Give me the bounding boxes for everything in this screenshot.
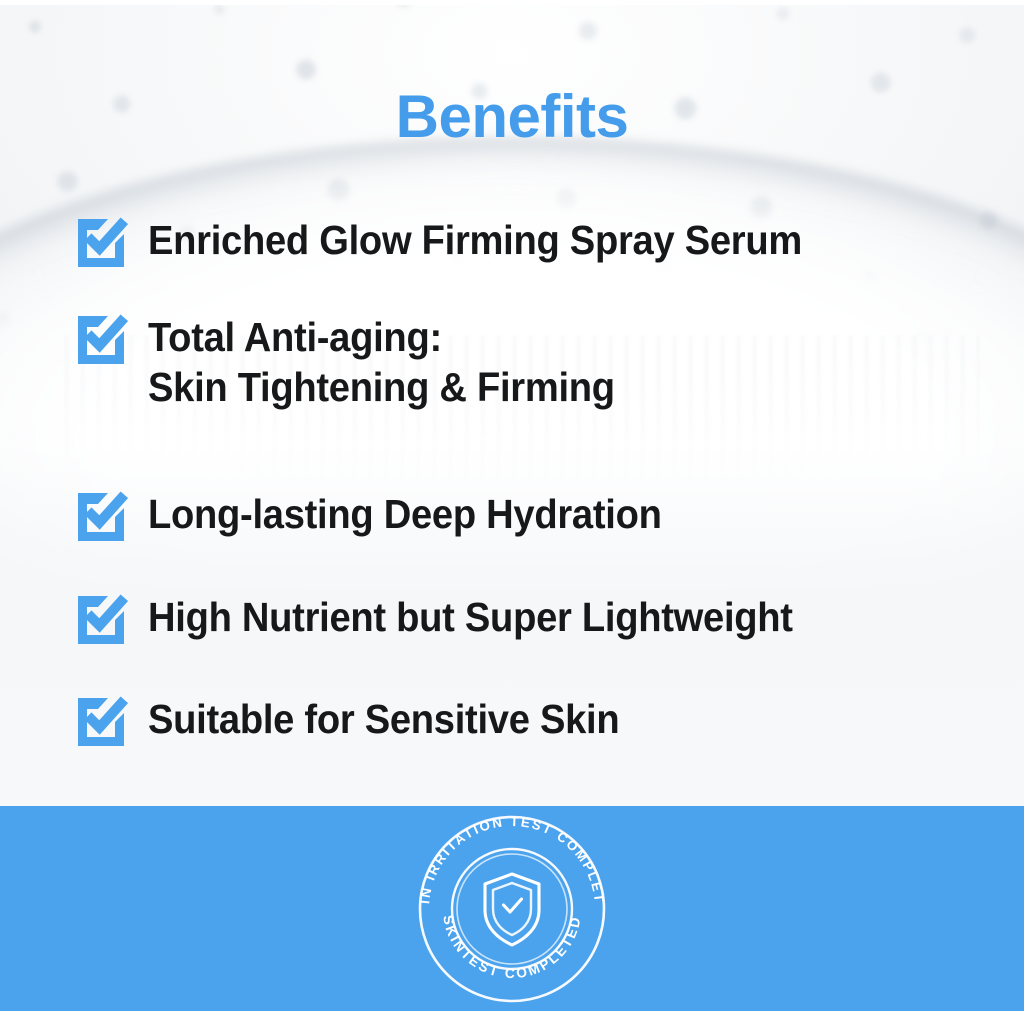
- benefits-infographic: Benefits Enriched Glow Firming Spray Ser…: [0, 0, 1024, 1024]
- list-item-label: High Nutrient but Super Lightweight: [148, 590, 793, 642]
- list-item: Enriched Glow Firming Spray Serum: [72, 213, 851, 269]
- list-item-label: Total Anti-aging: Skin Tightening & Firm…: [148, 310, 615, 412]
- skin-test-badge: SKIN IRRITATION TEST COMPLETED SKINTEST …: [407, 804, 617, 1014]
- list-item: High Nutrient but Super Lightweight: [72, 590, 841, 646]
- list-item-label: Suitable for Sensitive Skin: [148, 692, 619, 744]
- page-title: Benefits: [0, 82, 1024, 151]
- checked-checkbox-icon: [72, 487, 128, 543]
- list-item: Long-lasting Deep Hydration: [72, 487, 700, 543]
- list-item-label: Long-lasting Deep Hydration: [148, 487, 662, 539]
- checked-checkbox-icon: [72, 213, 128, 269]
- certification-footer-band: SKIN IRRITATION TEST COMPLETED SKINTEST …: [0, 806, 1024, 1011]
- badge-bottom-arc-text: SKINTEST COMPLETED: [440, 913, 584, 980]
- checked-checkbox-icon: [72, 692, 128, 748]
- list-item-label: Enriched Glow Firming Spray Serum: [148, 213, 802, 265]
- list-item: Suitable for Sensitive Skin: [72, 692, 655, 748]
- checked-checkbox-icon: [72, 590, 128, 646]
- checked-checkbox-icon: [72, 310, 128, 366]
- list-item: Total Anti-aging: Skin Tightening & Firm…: [72, 310, 650, 412]
